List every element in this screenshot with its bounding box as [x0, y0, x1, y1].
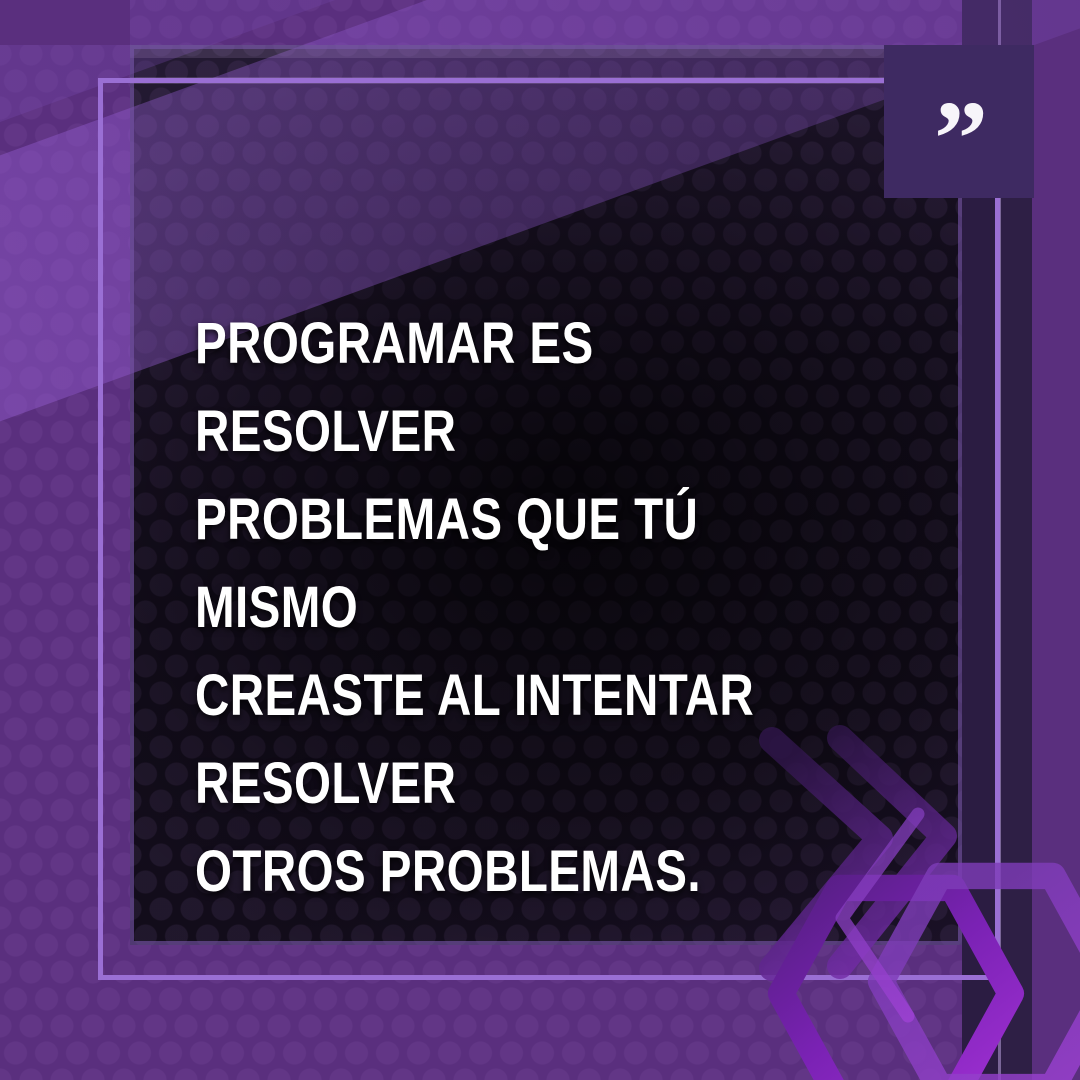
top-left-corner-block — [0, 0, 130, 45]
hexagon-chevron-logo-icon — [722, 718, 1080, 1080]
quote-text: PROGRAMAR ES RESOLVER PROBLEMAS QUE TÚ M… — [195, 300, 769, 916]
closing-double-quote-icon: ” — [934, 86, 984, 194]
quote-badge: ” — [884, 45, 1034, 198]
quote-card: ” PROGRAMAR ES RESOLVER PROBLEMAS QUE TÚ… — [0, 0, 1080, 1080]
